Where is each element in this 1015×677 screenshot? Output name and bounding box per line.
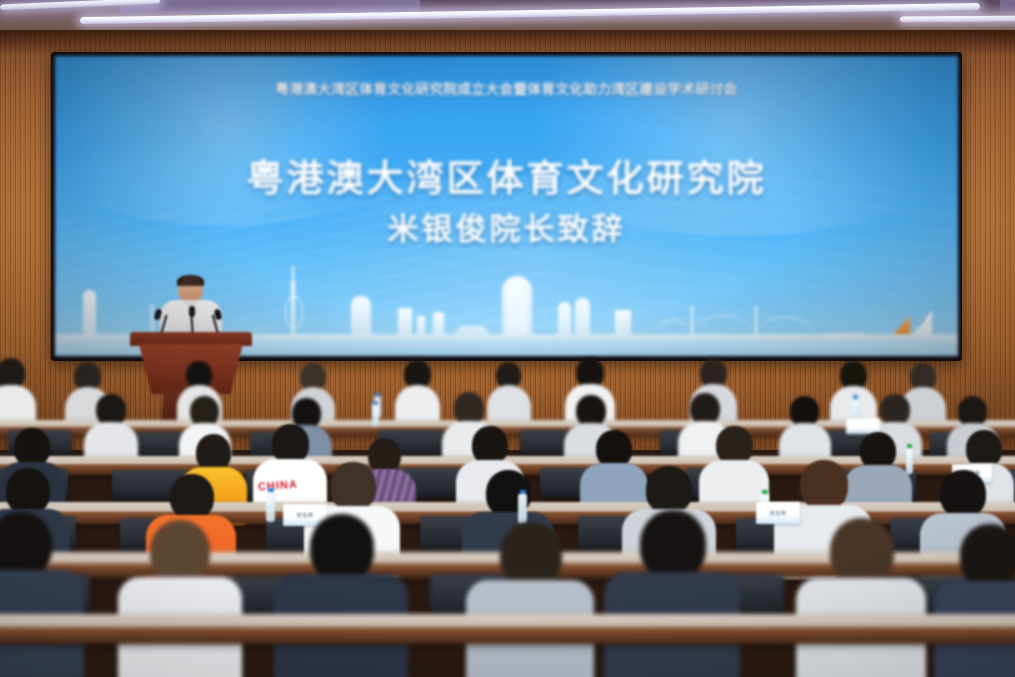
name-placard-center: 姓名牌 (756, 502, 800, 524)
ceiling (0, 0, 1015, 34)
desk-row-5 (0, 614, 1015, 644)
conference-hall-photo: 粤港澳大湾区体育文化研究院成立大会暨体育文化助力湾区建设学术研讨会 粤港澳大湾区… (0, 0, 1015, 677)
audience-seating-area: CHINA CHINA (0, 352, 1015, 677)
placard-text-center: 姓名牌 (770, 510, 787, 517)
ceiling-light-strip-right (900, 16, 1015, 23)
placard-text-left: 姓名牌 (297, 512, 314, 519)
